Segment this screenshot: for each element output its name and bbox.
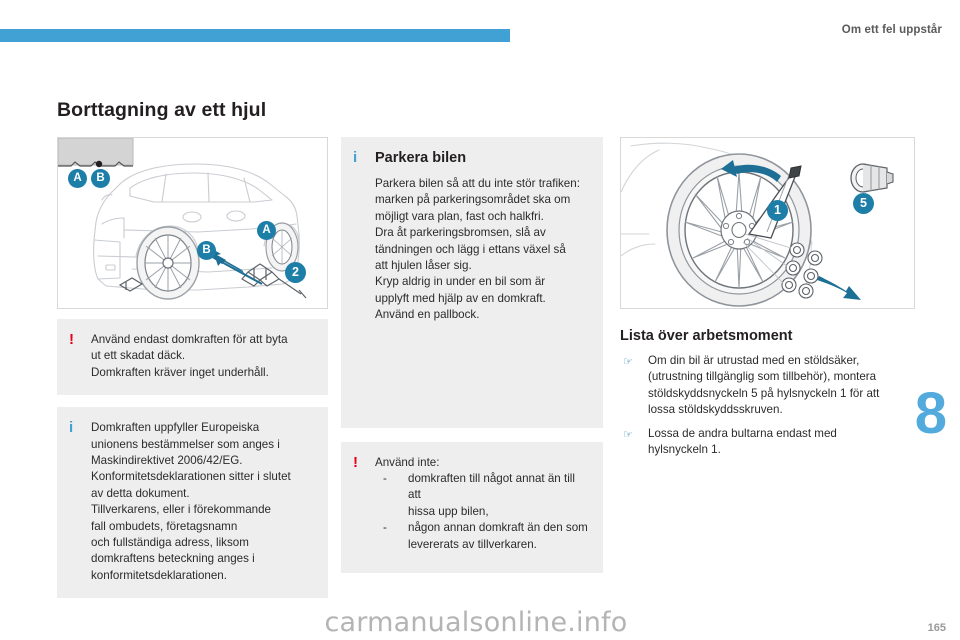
jack-compliance-info-note: i Domkraften uppfyller Europeiska unione…	[57, 407, 328, 598]
work-step-2-line-2: hylsnyckeln 1.	[648, 443, 721, 456]
work-step-2-line-1: Lossa de andra bultarna endast med	[648, 427, 837, 440]
work-step-1-line-4: lossa stöldskyddsskruven.	[648, 403, 783, 416]
info-line-7: fall ombudets, företagsnamn	[91, 519, 314, 535]
misuse-intro: Använd inte:	[375, 455, 589, 471]
wheel-bolt-removal-illustration: 1 5	[620, 137, 915, 309]
page-title: Borttagning av ett hjul	[57, 99, 266, 122]
site-watermark: carmanualsonline.info	[0, 607, 960, 638]
info-line-4: Konformitetsdeklarationen sitter i slute…	[91, 469, 314, 485]
park-line-9: Använd en pallbock.	[375, 307, 589, 323]
info-line-9: domkraftens beteckning anges i	[91, 551, 314, 567]
rear-wheel	[137, 227, 199, 299]
callout-jack-2: 2	[285, 262, 306, 283]
work-steps-list: ☞ Om din bil är utrustad med en stöldsäk…	[620, 353, 915, 458]
callout-inset-a: A	[68, 169, 87, 188]
callout-wrench-1: 1	[767, 200, 788, 221]
column-three: 1 5 Lista över arbetsmoment ☞ Om din bil…	[620, 137, 915, 465]
jack-usage-warning-note: ! Använd endast domkraften för att byta …	[57, 319, 328, 395]
work-step-1: ☞ Om din bil är utrustad med en stöldsäk…	[620, 353, 915, 419]
park-line-3: möjligt vara plan, fast och halkfri.	[375, 209, 589, 225]
header-accent-bar	[0, 29, 510, 42]
info-line-6: Tillverkarens, eller i förekommande	[91, 502, 314, 518]
misuse-item-1-text-2: hissa upp bilen,	[408, 505, 489, 518]
info-line-10: konformitetsdeklarationen.	[91, 568, 314, 584]
jack-misuse-warning-note: ! Använd inte: - domkraften till något a…	[341, 442, 603, 573]
misuse-item-1-line-2: hissa upp bilen,	[375, 504, 589, 520]
misuse-item-2-line-2: levererats av tillverkaren.	[375, 537, 589, 553]
info-line-3: Maskindirektivet 2006/42/EG.	[91, 453, 314, 469]
arrow-bullet-icon: ☞	[623, 354, 633, 370]
callout-body-a: A	[257, 221, 276, 240]
info-icon: i	[69, 420, 73, 436]
dash-marker: -	[383, 471, 387, 487]
park-line-2: marken på parkeringsområdet ska om	[375, 192, 589, 208]
chapter-number-badge: 8	[915, 385, 946, 443]
warning-icon: !	[69, 332, 74, 348]
info-icon: i	[353, 150, 357, 166]
info-line-1: Domkraften uppfyller Europeiska	[91, 420, 314, 436]
park-vehicle-heading: Parkera bilen	[375, 150, 589, 167]
warning-line-3: Domkraften kräver inget underhåll.	[91, 365, 314, 381]
callout-body-b: B	[197, 241, 216, 260]
work-step-1-line-2: (utrustning tillgänglig som tillbehör), …	[648, 370, 876, 383]
car-illustration-svg	[58, 138, 327, 308]
park-line-5: tändningen och lägg i ettans växel så	[375, 242, 589, 258]
misuse-item-2-text-1: någon annan domkraft än den som	[408, 521, 588, 534]
work-step-1-line-3: stöldskyddsnyckeln 5 på hylsnyckeln 1 fö…	[648, 387, 879, 400]
park-line-1: Parkera bilen så att du inte stör trafik…	[375, 176, 589, 192]
park-line-8: upplyft med hjälp av en domkraft.	[375, 291, 589, 307]
park-line-4: Dra åt parkeringsbromsen, slå av	[375, 225, 589, 241]
section-title-work-steps: Lista över arbetsmoment	[620, 328, 915, 344]
column-two: i Parkera bilen Parkera bilen så att du …	[341, 137, 603, 573]
warning-line-2: ut ett skadat däck.	[91, 348, 314, 364]
misuse-item-1-line-1: - domkraften till något annat än till at…	[375, 471, 589, 504]
warning-line-1: Använd endast domkraften för att byta	[91, 332, 314, 348]
work-step-1-line-1: Om din bil är utrustad med en stöldsäker…	[648, 354, 859, 367]
chapter-header-label: Om ett fel uppstår	[842, 24, 942, 36]
park-line-6: att hjulen låser sig.	[375, 258, 589, 274]
anti-theft-socket	[851, 164, 893, 192]
work-step-2: ☞ Lossa de andra bultarna endast med hyl…	[620, 426, 915, 459]
info-line-2: unionens bestämmelser som anges i	[91, 437, 314, 453]
callout-inset-b: B	[91, 169, 110, 188]
misuse-item-2-line-1: - någon annan domkraft än den som	[375, 520, 589, 536]
column-one: A B A B 2 ! Använd endast domkraften för…	[57, 137, 328, 598]
dash-marker: -	[383, 520, 387, 536]
misuse-list: - domkraften till något annat än till at…	[375, 471, 589, 553]
misuse-item-1-text-1: domkraften till något annat än till att	[408, 472, 575, 501]
misuse-item-2-text-2: levererats av tillverkaren.	[408, 538, 537, 551]
car-rear-jack-points-illustration: A B A B 2	[57, 137, 328, 309]
wheel-illustration-svg	[621, 138, 914, 308]
arrow-bullet-icon: ☞	[623, 427, 633, 443]
callout-socket-5: 5	[853, 193, 874, 214]
bolt-removal-arrow	[817, 276, 861, 300]
warning-icon: !	[353, 455, 358, 471]
info-line-5: av detta dokument.	[91, 486, 314, 502]
info-line-8: och fullständiga adress, liksom	[91, 535, 314, 551]
park-vehicle-info-note: i Parkera bilen Parkera bilen så att du …	[341, 137, 603, 428]
park-line-7: Kryp aldrig in under en bil som är	[375, 274, 589, 290]
manual-page: Om ett fel uppstår Borttagning av ett hj…	[0, 0, 960, 640]
